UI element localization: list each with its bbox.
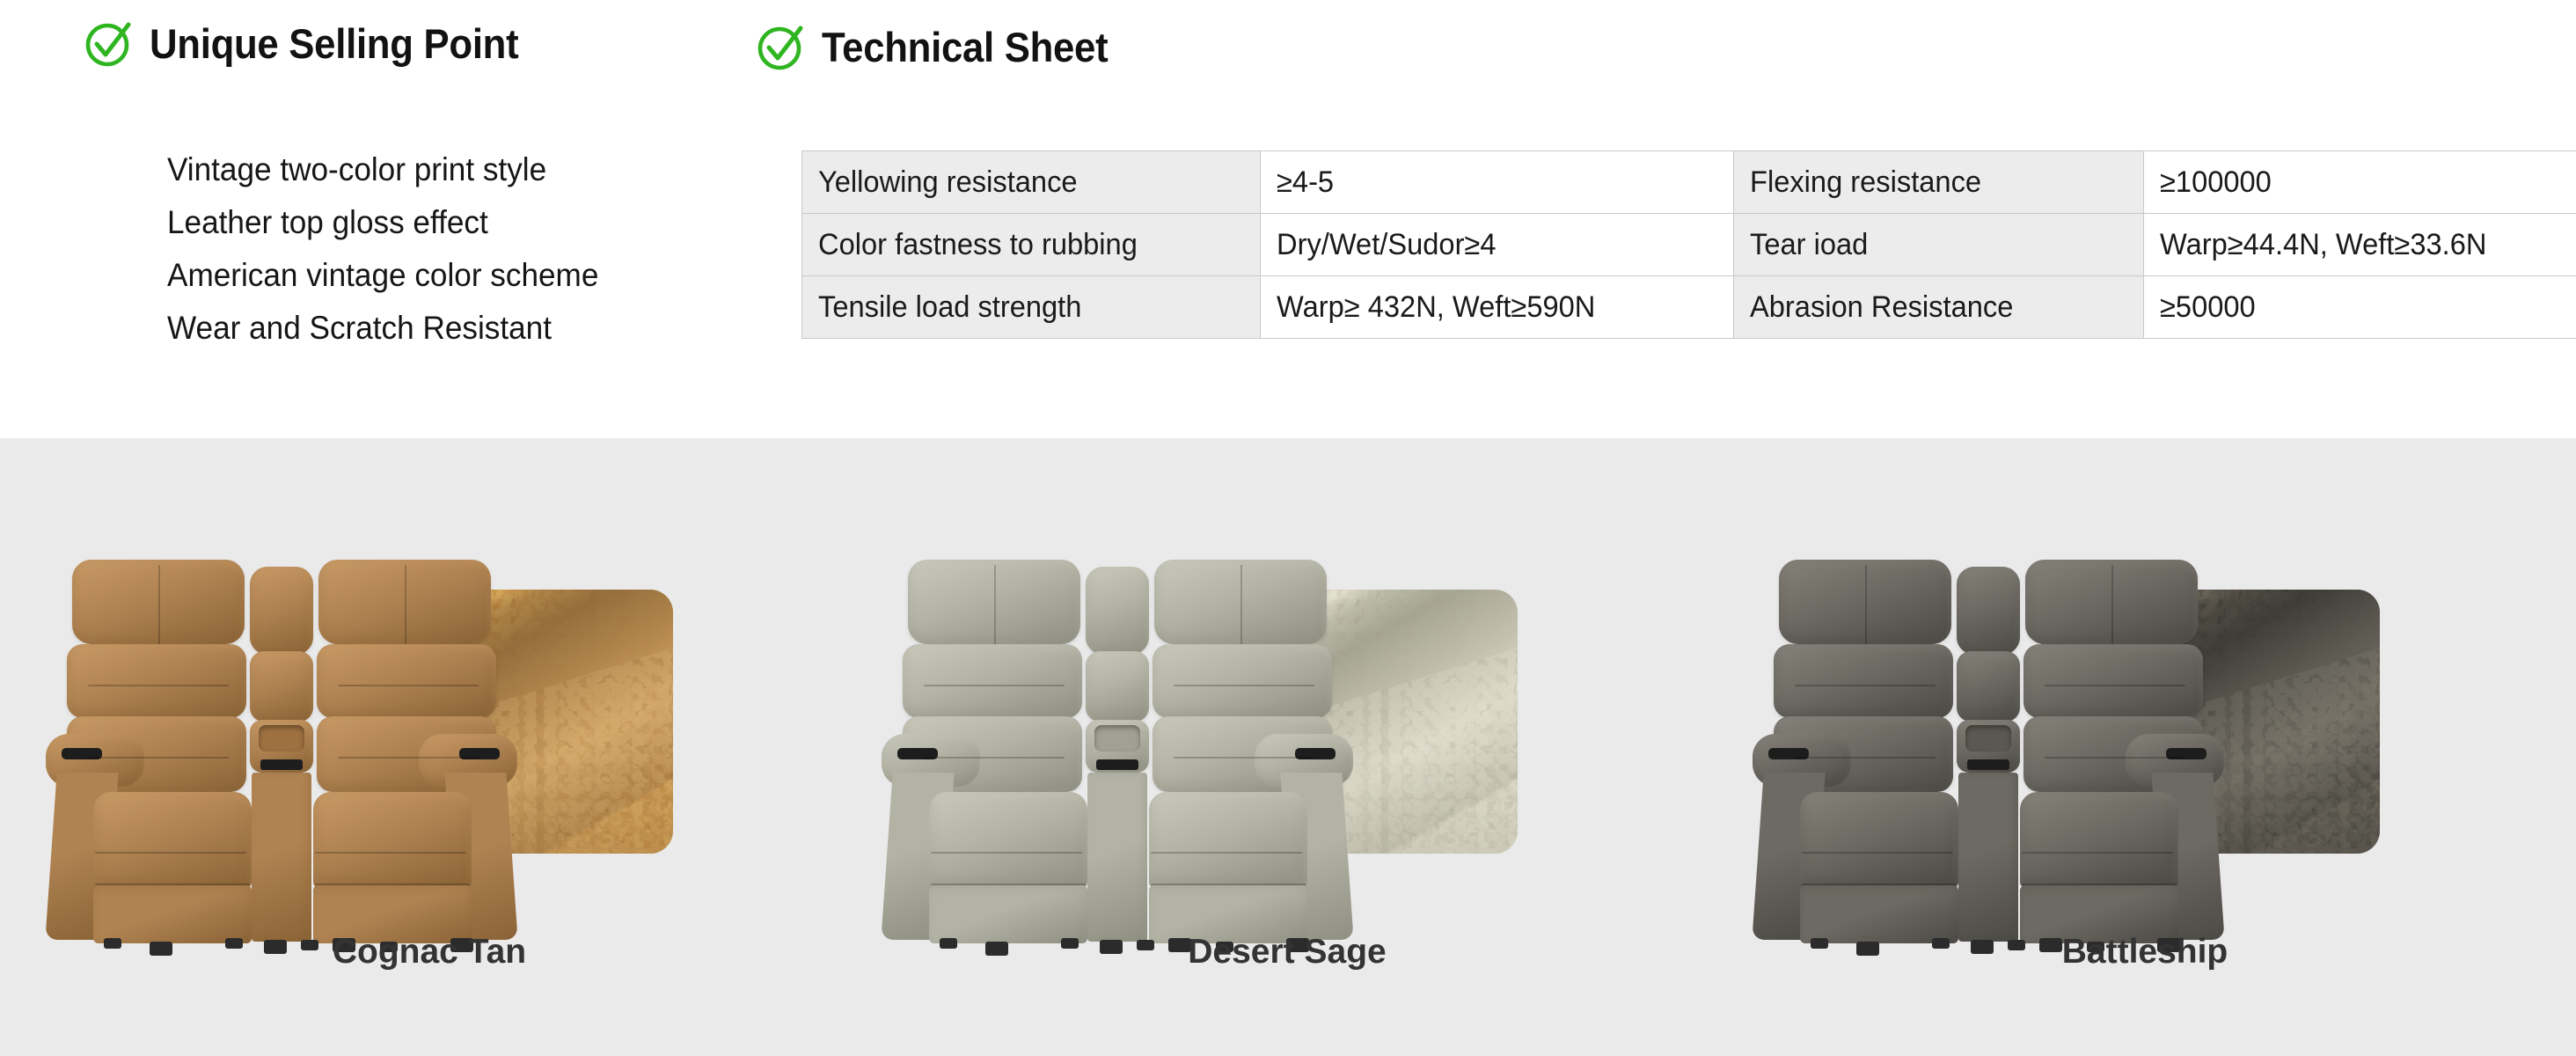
product-label-cognac-tan: Cognac Tan: [0, 933, 859, 972]
console-body: [252, 773, 311, 942]
console-mid: [250, 651, 313, 722]
stitch-seam-vertical: [158, 565, 160, 644]
stitch-seam: [95, 852, 246, 854]
console-control-panel: [260, 759, 303, 770]
stitch-seam: [1795, 685, 1936, 686]
stitch-seam: [931, 884, 1086, 885]
backrest-mid-right: [2023, 644, 2203, 718]
console-mid: [1957, 651, 2020, 722]
table-cell-value: Dry/Wet/Sudor≥4: [1261, 214, 1734, 276]
stitch-seam-vertical: [1865, 565, 1867, 644]
table-cell-label: Yellowing resistance: [802, 151, 1261, 214]
console-top: [1086, 567, 1149, 655]
stitch-seam: [338, 685, 479, 686]
product-label-battleship: Battleship: [1716, 933, 2574, 972]
recliner-desert-sage[interactable]: [889, 553, 1452, 975]
technical-sheet-table: Yellowing resistance ≥4-5 Flexing resist…: [801, 150, 2576, 339]
stitch-seam: [2045, 685, 2185, 686]
stitch-seam: [88, 757, 229, 759]
table-cell-value: ≥4-5: [1261, 151, 1734, 214]
console-top: [250, 567, 313, 655]
product-label-desert-sage: Desert Sage: [858, 933, 1716, 972]
usp-title: Unique Selling Point: [150, 19, 518, 68]
stitch-seam: [88, 685, 229, 686]
seat-cushion-left: [93, 792, 252, 889]
console-body: [1087, 773, 1147, 942]
stitch-seam-vertical: [2111, 565, 2113, 644]
backrest-mid-left: [903, 644, 1082, 718]
stitch-seam: [1151, 884, 1306, 885]
console-cupholder: [259, 725, 304, 752]
recliner-battleship[interactable]: [1760, 553, 2323, 975]
usp-list-item: American vintage color scheme: [167, 249, 598, 302]
console-control-panel: [1096, 759, 1138, 770]
console-control-panel: [1967, 759, 2009, 770]
green-check-circle-icon: [757, 24, 804, 71]
stitch-seam-vertical: [405, 565, 406, 644]
backrest-mid-left: [67, 644, 246, 718]
usp-list: Vintage two-color print style Leather to…: [167, 143, 621, 355]
stitch-seam: [2022, 852, 2173, 854]
stitch-seam-vertical: [994, 565, 996, 644]
recliner-cognac-tan[interactable]: [53, 553, 616, 975]
stitch-seam: [315, 884, 470, 885]
usp-list-item: Vintage two-color print style: [167, 143, 598, 196]
table-row: Color fastness to rubbing Dry/Wet/Sudor≥…: [802, 214, 2576, 276]
console-mid: [1086, 651, 1149, 722]
console-top: [1957, 567, 2020, 655]
table-cell-label: Abrasion Resistance: [1734, 276, 2144, 339]
table-row: Tensile load strength Warp≥ 432N, Weft≥5…: [802, 276, 2576, 339]
technical-sheet-header: Technical Sheet: [757, 23, 1130, 71]
stitch-seam: [1802, 852, 1953, 854]
stitch-seam: [2022, 884, 2177, 885]
table-cell-value: ≥50000: [2144, 276, 2576, 339]
table-row: Yellowing resistance ≥4-5 Flexing resist…: [802, 151, 2576, 214]
backrest-mid-right: [1153, 644, 1332, 718]
usp-list-item: Wear and Scratch Resistant: [167, 302, 598, 355]
console-body: [1958, 773, 2018, 942]
console-cupholder: [1094, 725, 1140, 752]
stitch-seam: [1174, 685, 1314, 686]
stitch-seam: [924, 757, 1065, 759]
table-cell-label: Tear ioad: [1734, 214, 2144, 276]
top-info-section: Unique Selling Point Vintage two-color p…: [0, 0, 2576, 438]
stitch-seam: [95, 884, 250, 885]
backrest-mid-left: [1774, 644, 1953, 718]
usp-list-item: Leather top gloss effect: [167, 196, 598, 249]
stitch-seam: [1174, 757, 1314, 759]
stitch-seam: [2045, 757, 2185, 759]
table-cell-value: ≥100000: [2144, 151, 2576, 214]
stitch-seam: [315, 852, 466, 854]
green-check-circle-icon: [84, 20, 132, 68]
stitch-seam: [1795, 757, 1936, 759]
table-cell-label: Flexing resistance: [1734, 151, 2144, 214]
table-cell-label: Tensile load strength: [802, 276, 1261, 339]
console-cupholder: [1965, 725, 2011, 752]
usp-header: Unique Selling Point: [84, 19, 546, 68]
seat-cushion-left: [929, 792, 1087, 889]
stitch-seam-vertical: [1240, 565, 1242, 644]
stitch-seam: [338, 757, 479, 759]
seat-cushion-right: [2020, 792, 2178, 889]
table-cell-value: Warp≥44.4N, Weft≥33.6N: [2144, 214, 2576, 276]
stitch-seam: [1802, 884, 1957, 885]
technical-sheet-title: Technical Sheet: [822, 23, 1108, 71]
stitch-seam: [1151, 852, 1302, 854]
seat-cushion-left: [1800, 792, 1958, 889]
seat-cushion-right: [313, 792, 472, 889]
backrest-mid-right: [317, 644, 496, 718]
table-cell-label: Color fastness to rubbing: [802, 214, 1261, 276]
table-cell-value: Warp≥ 432N, Weft≥590N: [1261, 276, 1734, 339]
stitch-seam: [931, 852, 1082, 854]
stitch-seam: [924, 685, 1065, 686]
seat-cushion-right: [1149, 792, 1307, 889]
